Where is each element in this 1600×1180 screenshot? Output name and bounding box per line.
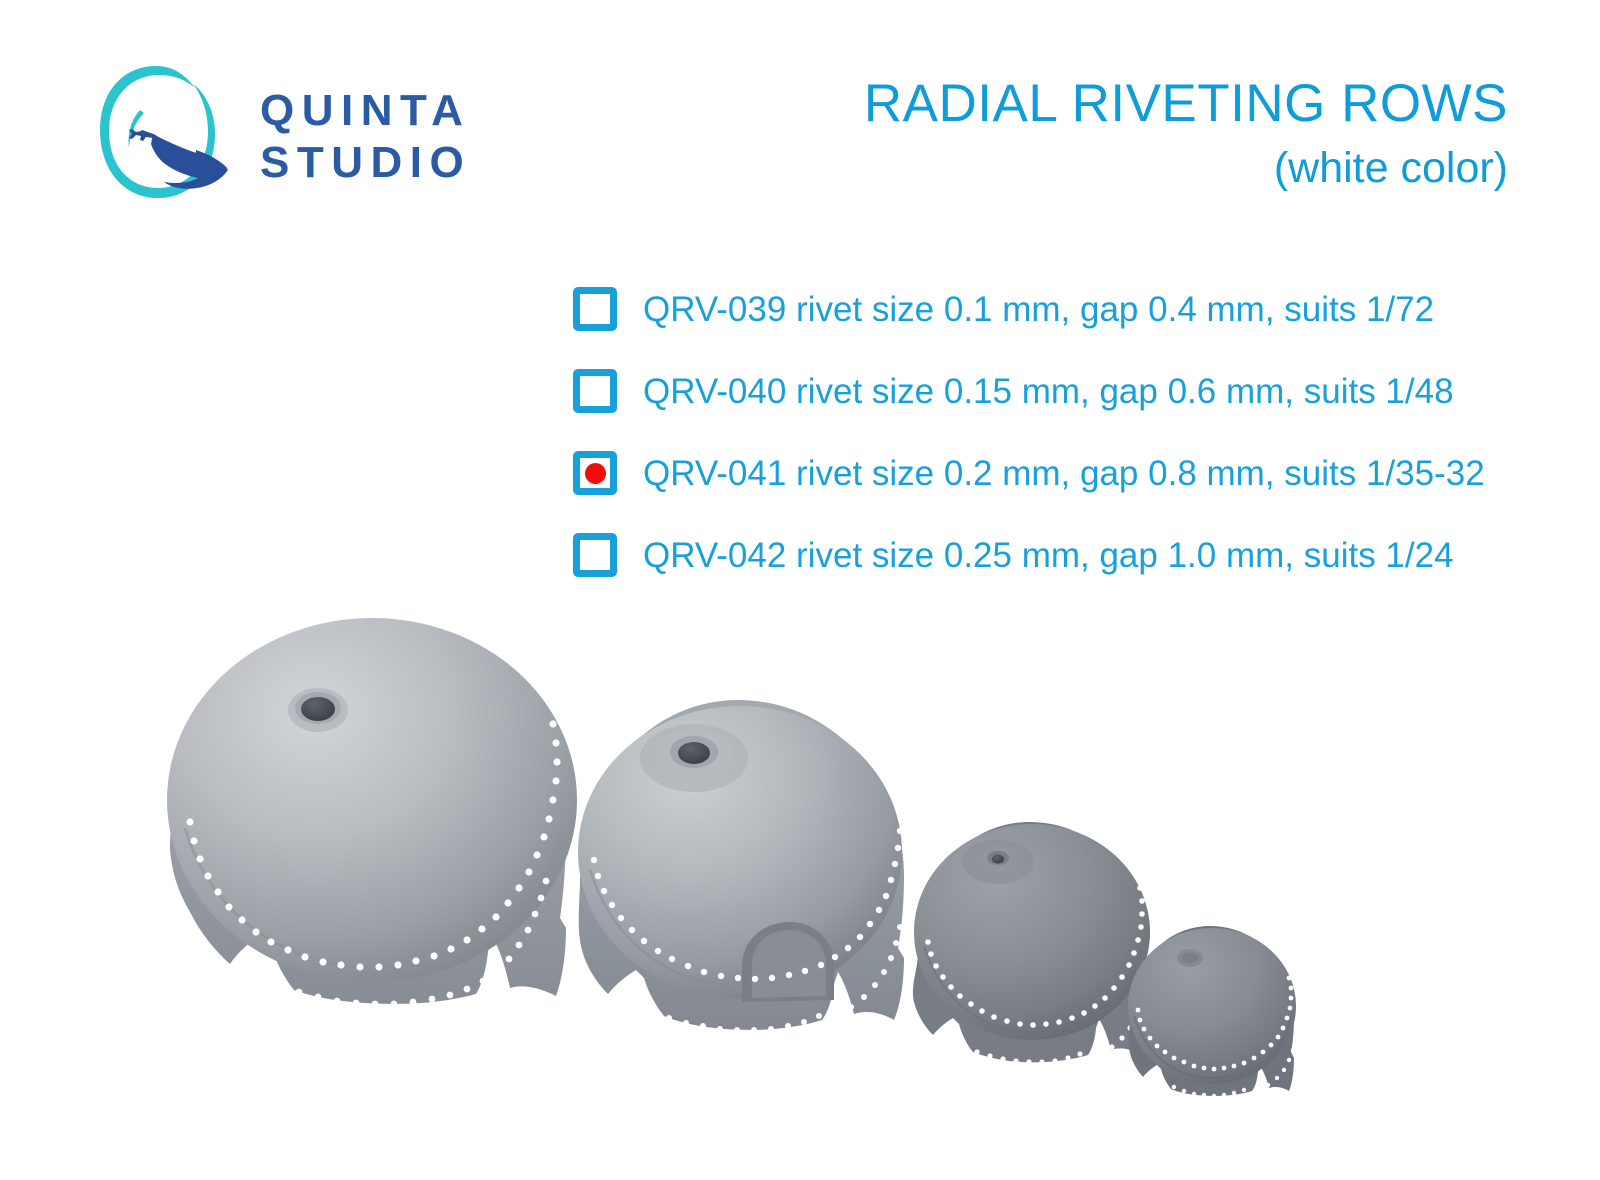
- quinta-q-swoosh-jet-logo: [96, 58, 238, 210]
- variant-row-qrv-041[interactable]: QRV-041 rivet size 0.2 mm, gap 0.8 mm, s…: [573, 432, 1553, 514]
- spinner-small: [913, 822, 1150, 1065]
- selected-dot-icon: [585, 463, 606, 484]
- brand-wordmark: QUINTA STUDIO: [260, 81, 471, 186]
- product-photo: [0, 560, 1600, 1180]
- spinner-large: [167, 618, 577, 1007]
- variant-label-qrv-041: QRV-041 rivet size 0.2 mm, gap 0.8 mm, s…: [643, 456, 1485, 491]
- spinner-medium: [578, 700, 904, 1033]
- brand-name-line-1: QUINTA: [260, 87, 471, 135]
- product-sheet: QUINTA STUDIO RADIAL RIVETING ROWS (whit…: [0, 0, 1600, 1180]
- checkbox-qrv-040[interactable]: [573, 369, 617, 413]
- title-block: RADIAL RIVETING ROWS (white color): [864, 76, 1508, 192]
- checkbox-qrv-041[interactable]: [573, 451, 617, 495]
- header: QUINTA STUDIO RADIAL RIVETING ROWS (whit…: [0, 0, 1600, 230]
- brand-logo: QUINTA STUDIO: [96, 58, 471, 210]
- spinner-cones-photo: [0, 560, 1600, 1180]
- variant-row-qrv-039[interactable]: QRV-039 rivet size 0.1 mm, gap 0.4 mm, s…: [573, 268, 1553, 350]
- variant-label-qrv-039: QRV-039 rivet size 0.1 mm, gap 0.4 mm, s…: [643, 292, 1434, 327]
- brand-name-line-2: STUDIO: [260, 139, 471, 187]
- variant-list: QRV-039 rivet size 0.1 mm, gap 0.4 mm, s…: [573, 268, 1553, 596]
- page-subtitle: (white color): [864, 145, 1508, 192]
- variant-row-qrv-040[interactable]: QRV-040 rivet size 0.15 mm, gap 0.6 mm, …: [573, 350, 1553, 432]
- checkbox-qrv-039[interactable]: [573, 287, 617, 331]
- variant-label-qrv-040: QRV-040 rivet size 0.15 mm, gap 0.6 mm, …: [643, 374, 1454, 409]
- page-title: RADIAL RIVETING ROWS: [864, 76, 1508, 132]
- spinner-smallest: [1128, 926, 1296, 1098]
